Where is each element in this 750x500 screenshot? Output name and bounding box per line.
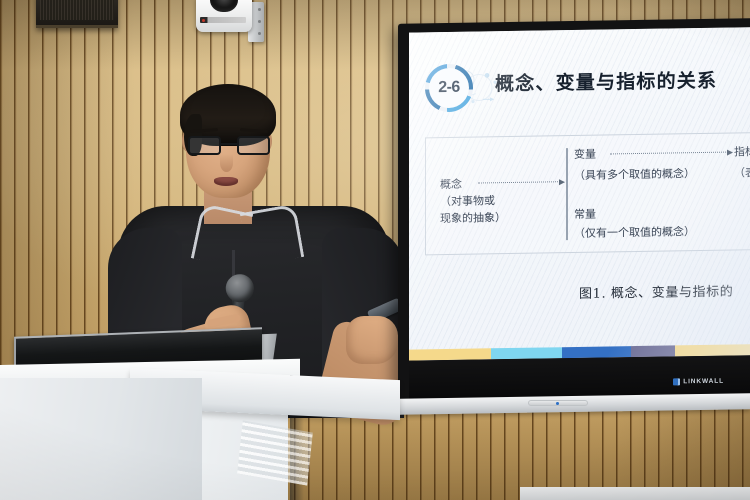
wall-speaker bbox=[36, 0, 118, 28]
speaker-grille bbox=[40, 0, 114, 20]
lectern[interactable] bbox=[0, 330, 390, 500]
diagram-indicator-sub: （表示 bbox=[734, 164, 750, 181]
camera-status-led bbox=[202, 19, 205, 22]
display-brand-logo: LINKWALL bbox=[673, 378, 724, 386]
diagram-arrow-concept-to-variable bbox=[478, 181, 560, 183]
figure-caption: 图1. 概念、变量与指标的 bbox=[579, 280, 733, 301]
brand-name: LINKWALL bbox=[683, 378, 724, 386]
slide-content: 2-6 概念、变量与指标的关系 概念 （对事物或 现象的抽象） 变量 （具有多个… bbox=[409, 27, 750, 360]
presentation-scene: 2-6 概念、变量与指标的关系 概念 （对事物或 现象的抽象） 变量 （具有多个… bbox=[0, 0, 750, 500]
glasses-bridge bbox=[221, 143, 237, 145]
color-bar-segment-purple bbox=[631, 345, 675, 357]
diagram-node-constant: 常量 bbox=[574, 206, 596, 222]
slide-title: 概念、变量与指标的关系 bbox=[495, 66, 717, 96]
concept-sub-1: （对事物或 bbox=[440, 194, 495, 208]
mouth bbox=[214, 177, 238, 186]
nose bbox=[220, 154, 233, 172]
ptz-camera bbox=[196, 0, 268, 44]
smartboard-display[interactable]: 2-6 概念、变量与指标的关系 概念 （对事物或 现象的抽象） 变量 （具有多个… bbox=[398, 18, 750, 401]
microphone-head bbox=[224, 273, 255, 304]
display-power-led bbox=[556, 402, 559, 405]
display-screen[interactable]: 2-6 概念、变量与指标的关系 概念 （对事物或 现象的抽象） 变量 （具有多个… bbox=[409, 27, 750, 360]
slide-section-badge: 2-6 bbox=[423, 61, 495, 114]
diagram-constant-sub: （仅有一个取值的概念） bbox=[574, 223, 695, 241]
diagram-node-indicator: 指标 bbox=[734, 143, 750, 159]
concept-label: 概念 bbox=[440, 178, 462, 191]
concept-sub-2: 现象的抽象） bbox=[440, 211, 506, 225]
diagram-variable-sub: （具有多个取值的概念） bbox=[574, 165, 695, 183]
glasses-lens-right bbox=[237, 136, 270, 155]
diagram-arrow-variable-to-indicator bbox=[610, 152, 728, 155]
camera-label-strip bbox=[200, 17, 246, 23]
wall-baseboard bbox=[520, 487, 750, 500]
diagram-vertical-divider bbox=[566, 148, 568, 240]
brand-mark-icon bbox=[673, 378, 680, 385]
glasses-lens-left bbox=[188, 136, 221, 155]
polo-collar-right bbox=[240, 204, 305, 267]
slide-diagram: 概念 （对事物或 现象的抽象） 变量 （具有多个取值的概念） 常量 （仅有一个取… bbox=[425, 132, 750, 256]
glasses-icon bbox=[188, 136, 270, 156]
lectern-front-panel bbox=[0, 378, 202, 500]
diagram-node-variable: 变量 bbox=[574, 146, 596, 163]
